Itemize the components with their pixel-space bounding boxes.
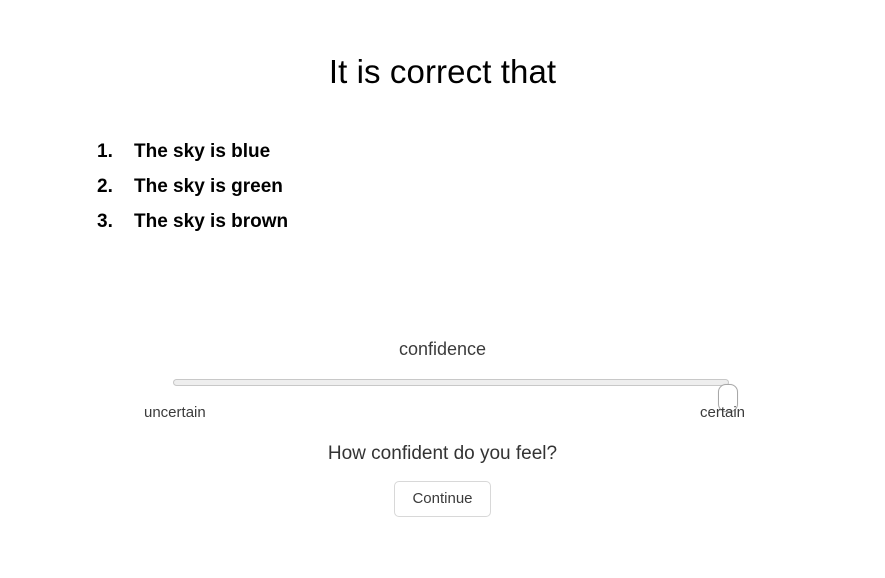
- list-item-label: The sky is brown: [134, 204, 288, 239]
- statement-list: 1. The sky is blue 2. The sky is green 3…: [97, 134, 288, 239]
- confidence-slider[interactable]: [0, 366, 885, 400]
- confidence-slider-caption: confidence: [0, 338, 885, 360]
- list-item: 3. The sky is brown: [97, 204, 288, 239]
- continue-button-container: Continue: [0, 481, 885, 517]
- confidence-slider-group: confidence uncertain certain: [0, 338, 885, 425]
- continue-button[interactable]: Continue: [394, 481, 491, 517]
- list-item-number: 1.: [97, 134, 134, 169]
- slider-track[interactable]: [173, 379, 729, 386]
- list-item-number: 3.: [97, 204, 134, 239]
- list-item-label: The sky is blue: [134, 134, 270, 169]
- list-item: 2. The sky is green: [97, 169, 288, 204]
- slider-end-labels: uncertain certain: [0, 403, 885, 425]
- list-item: 1. The sky is blue: [97, 134, 288, 169]
- slider-max-label: certain: [700, 403, 745, 423]
- confidence-question: How confident do you feel?: [0, 442, 885, 466]
- slider-min-label: uncertain: [144, 403, 206, 423]
- list-item-label: The sky is green: [134, 169, 283, 204]
- list-item-number: 2.: [97, 169, 134, 204]
- page-title: It is correct that: [0, 52, 885, 92]
